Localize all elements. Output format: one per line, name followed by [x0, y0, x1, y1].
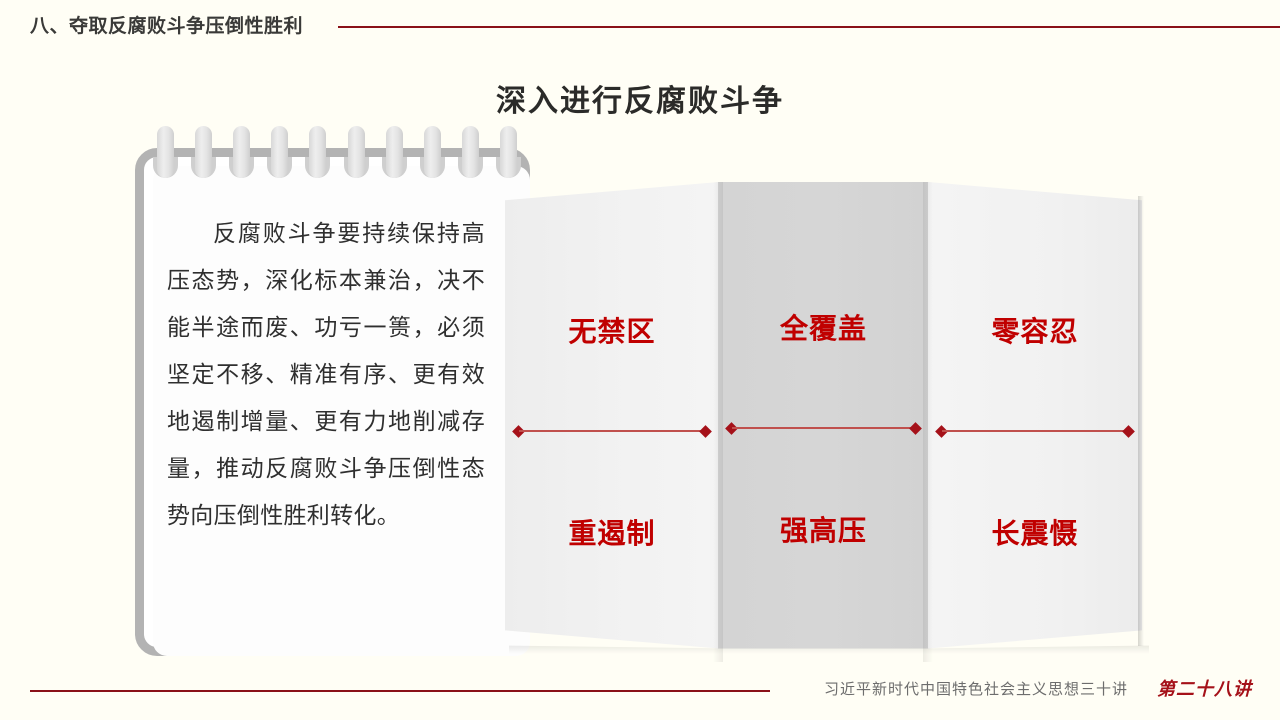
footer-rule-line [30, 690, 770, 692]
diamond-marker-icon [699, 425, 712, 438]
folded-panel-group: 无禁区 重遏制 全覆盖 强高压 零容忍 长震慑 [505, 182, 1150, 662]
spiral-ring-icon [462, 126, 479, 178]
spiral-ring-icon [309, 126, 326, 178]
panel-left-top-label: 无禁区 [505, 310, 719, 350]
panel-right-edge-shadow [1138, 196, 1144, 646]
panel-right-face [928, 182, 1142, 662]
panel-left-face [505, 182, 719, 662]
divider-line [942, 430, 1128, 432]
panel-right-divider [936, 425, 1134, 437]
spiral-ring-icon [386, 126, 403, 178]
spiral-ring-icon [233, 126, 250, 178]
spiral-ring-icon [195, 126, 212, 178]
diamond-marker-icon [1122, 425, 1135, 438]
section-title: 八、夺取反腐败斗争压倒性胜利 [30, 11, 303, 38]
notepad-card: 反腐败斗争要持续保持高压态势，深化标本兼治，决不能半途而废、功亏一篑，必须坚定不… [135, 148, 530, 656]
header-rule-line [338, 26, 1280, 28]
panel-right-bottom-label: 长震慑 [928, 512, 1142, 552]
notepad-body-text: 反腐败斗争要持续保持高压态势，深化标本兼治，决不能半途而废、功亏一篑，必须坚定不… [167, 210, 485, 539]
footer-lecture-label: 第二十八讲 [1157, 675, 1252, 701]
panel-right-top-label: 零容忍 [928, 310, 1142, 350]
page-title: 深入进行反腐败斗争 [0, 76, 1280, 120]
slide-header: 八、夺取反腐败斗争压倒性胜利 [0, 0, 1280, 48]
panel-middle-top-label: 全覆盖 [718, 307, 929, 347]
spiral-ring-icon [271, 126, 288, 178]
panel-left-bottom-label: 重遏制 [505, 512, 719, 552]
spiral-ring-icon [348, 126, 365, 178]
divider-line [519, 430, 705, 432]
panel-left-divider [513, 425, 711, 437]
spiral-ring-icon [500, 126, 517, 178]
spiral-ring-icon [157, 126, 174, 178]
panel-middle-bottom-label: 强高压 [718, 509, 929, 549]
spiral-binding-rings [157, 126, 517, 182]
footer-series-title: 习近平新时代中国特色社会主义思想三十讲 [824, 678, 1128, 699]
panel-right[interactable]: 零容忍 长震慑 [928, 182, 1142, 662]
divider-line [732, 427, 915, 429]
panel-left[interactable]: 无禁区 重遏制 [505, 182, 719, 662]
panel-middle[interactable]: 全覆盖 强高压 [718, 182, 929, 662]
spiral-ring-icon [424, 126, 441, 178]
diamond-marker-icon [909, 422, 922, 435]
panel-middle-divider [726, 422, 921, 434]
